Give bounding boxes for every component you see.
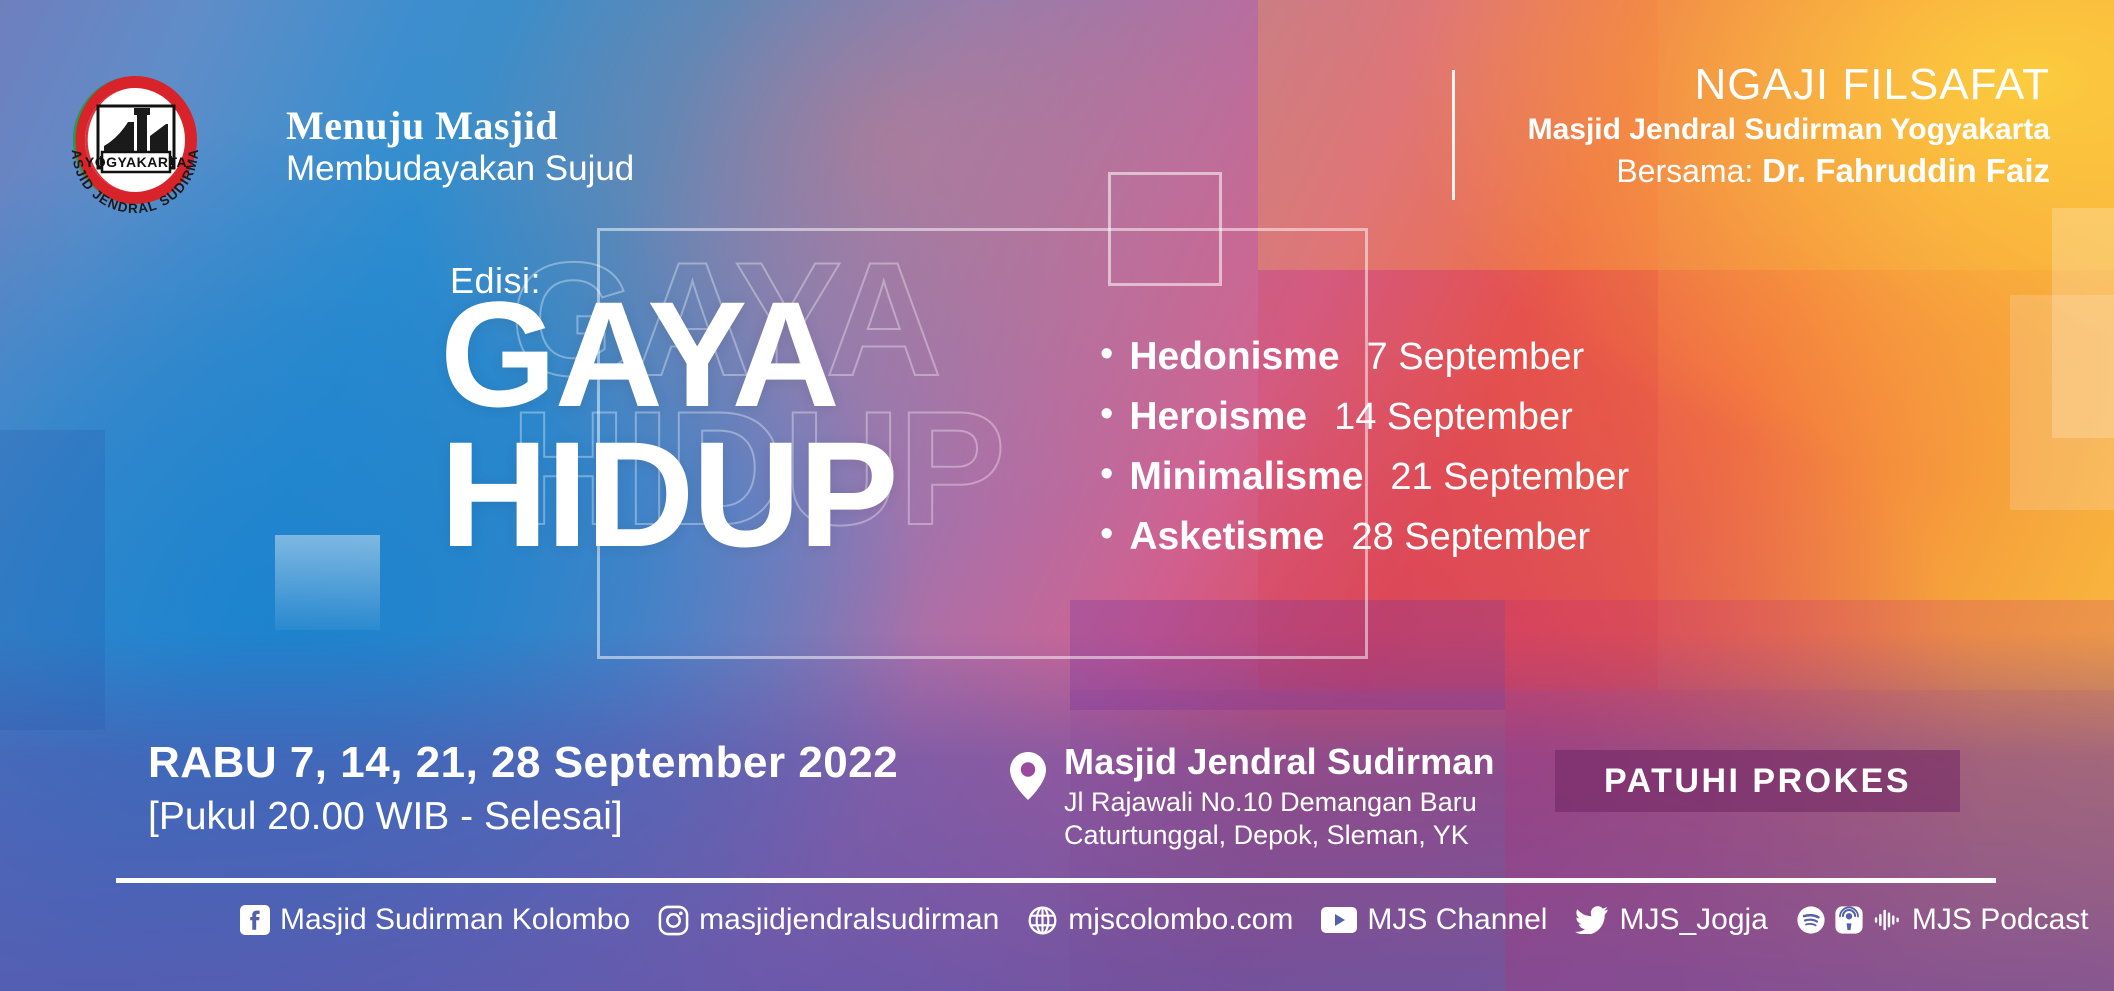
topic-date: 7 September	[1367, 338, 1585, 376]
status-badge: PATUHI PROKES	[1555, 750, 1960, 812]
twitter-label: MJS_Jogja	[1619, 903, 1767, 937]
spotify-icon	[1796, 905, 1826, 935]
decor-outline-rect-small	[1108, 172, 1222, 286]
decor-block-white-right-2	[2010, 295, 2114, 510]
venue-address-line-2: Caturtunggal, Depok, Sleman, YK	[1064, 819, 1495, 852]
podcast-label: MJS Podcast	[1912, 903, 2089, 937]
instagram-icon	[658, 905, 689, 936]
apple-podcasts-icon	[1834, 905, 1864, 935]
bullet-icon: •	[1100, 455, 1113, 493]
topic-date: 21 September	[1390, 458, 1629, 496]
facebook-label: Masjid Sudirman Kolombo	[280, 903, 630, 937]
bullet-icon: •	[1100, 395, 1113, 433]
venue-text: Masjid Jendral Sudirman Jl Rajawali No.1…	[1064, 742, 1495, 853]
list-item: • Asketisme 28 September	[1100, 517, 1629, 556]
youtube-icon	[1321, 907, 1357, 933]
anchor-icon	[1872, 905, 1902, 935]
tagline-line-1: Menuju Masjid	[286, 105, 634, 147]
promotional-banner: YOGYAKARTA MASJID JENDRAL SUDIRMAN Menuj…	[0, 0, 2114, 991]
website-label: mjscolombo.com	[1068, 903, 1293, 937]
mjs-logo: YOGYAKARTA MASJID JENDRAL SUDIRMAN	[54, 62, 216, 224]
list-item: • Heroisme 14 September	[1100, 397, 1629, 436]
venue-block: Masjid Jendral Sudirman Jl Rajawali No.1…	[1010, 742, 1495, 853]
social-item-facebook[interactable]: Masjid Sudirman Kolombo	[240, 903, 630, 937]
tagline-line-2: Membudayakan Sujud	[286, 149, 634, 189]
schedule-block: RABU 7, 14, 21, 28 September 2022 [Pukul…	[148, 740, 898, 839]
bullet-icon: •	[1100, 335, 1113, 373]
topic-date: 28 September	[1351, 518, 1590, 556]
venue-address-line-1: Jl Rajawali No.10 Demangan Baru	[1064, 786, 1495, 819]
decor-block-lightblue	[275, 535, 380, 630]
topic-name: Heroisme	[1129, 397, 1307, 436]
header-speaker-line: Bersama: Dr. Fahruddin Faiz	[1528, 150, 2050, 191]
schedule-time: [Pukul 20.00 WIB - Selesai]	[148, 796, 898, 839]
list-item: • Minimalisme 21 September	[1100, 457, 1629, 496]
topic-name: Minimalisme	[1129, 457, 1363, 496]
header-block: NGAJI FILSAFAT Masjid Jendral Sudirman Y…	[1528, 62, 2052, 191]
topic-list: • Hedonisme 7 September • Heroisme 14 Se…	[1100, 337, 1629, 577]
social-item-instagram[interactable]: masjidjendralsudirman	[658, 903, 999, 937]
header-title: NGAJI FILSAFAT	[1528, 62, 2050, 108]
header-speaker-name: Dr. Fahruddin Faiz	[1762, 152, 2050, 189]
social-item-podcast[interactable]: MJS Podcast	[1796, 903, 2089, 937]
list-item: • Hedonisme 7 September	[1100, 337, 1629, 376]
topic-name: Hedonisme	[1129, 337, 1339, 376]
schedule-date: RABU 7, 14, 21, 28 September 2022	[148, 740, 898, 786]
brand-tagline: Menuju Masjid Membudayakan Sujud	[286, 105, 634, 189]
social-item-youtube[interactable]: MJS Channel	[1321, 903, 1547, 937]
globe-icon	[1027, 905, 1058, 936]
header-with-label: Bersama:	[1616, 153, 1753, 189]
social-footer: Masjid Sudirman Kolombo masjidjendralsud…	[240, 903, 2089, 937]
social-item-website[interactable]: mjscolombo.com	[1027, 903, 1293, 937]
svg-text:YOGYAKARTA: YOGYAKARTA	[85, 154, 187, 170]
bullet-icon: •	[1100, 515, 1113, 553]
youtube-label: MJS Channel	[1367, 903, 1547, 937]
facebook-icon	[240, 905, 270, 935]
footer-divider	[116, 878, 1996, 883]
header-subtitle: Masjid Jendral Sudirman Yogyakarta	[1528, 111, 2050, 149]
topic-date: 14 September	[1334, 398, 1573, 436]
hero-title-line-2: HIDUP	[440, 410, 897, 578]
decor-block-blue-left	[0, 430, 105, 730]
social-item-twitter[interactable]: MJS_Jogja	[1575, 903, 1767, 937]
topic-name: Asketisme	[1129, 517, 1324, 556]
instagram-label: masjidjendralsudirman	[699, 903, 999, 937]
prokes-label: PATUHI PROKES	[1604, 762, 1911, 801]
venue-name: Masjid Jendral Sudirman	[1064, 742, 1495, 782]
hero-title-stack: GAYAHIDUP GAYAHIDUP	[440, 285, 897, 564]
twitter-icon	[1575, 906, 1609, 934]
location-pin-icon	[1010, 752, 1046, 805]
hero-title-solid: GAYAHIDUP	[440, 285, 897, 564]
podcast-icons	[1796, 905, 1902, 935]
header-vertical-rule	[1452, 70, 1455, 200]
